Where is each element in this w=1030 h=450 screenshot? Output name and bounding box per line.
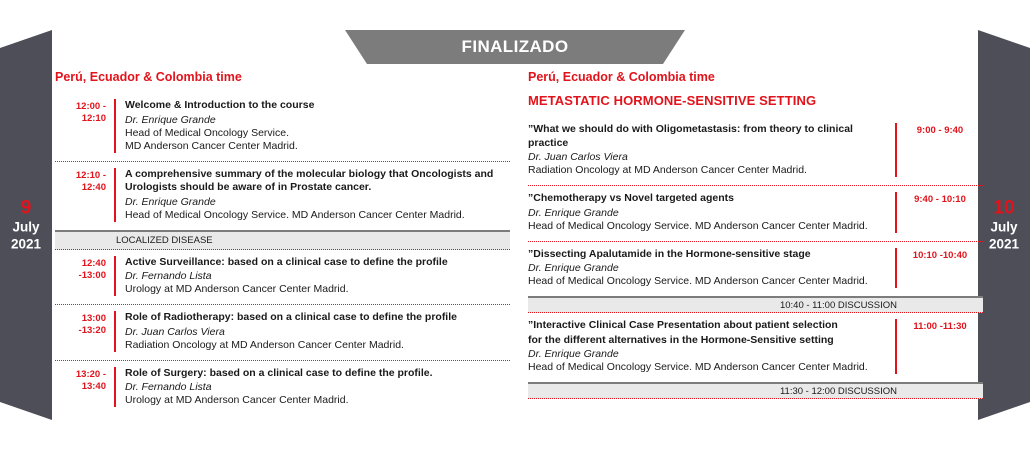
row-title: Welcome & Introduction to the course bbox=[125, 99, 510, 113]
row-body: ”Chemotherapy vs Novel targeted agents D… bbox=[528, 192, 897, 233]
day-year: 2021 bbox=[978, 236, 1030, 253]
row-speaker: Dr. Fernando Lista bbox=[125, 270, 510, 283]
row-affiliation-2: MD Anderson Cancer Center Madrid. bbox=[125, 140, 510, 153]
agenda-row[interactable]: ”Interactive Clinical Case Presentation … bbox=[528, 313, 983, 382]
row-body: ”What we should do with Oligometastasis:… bbox=[528, 123, 897, 177]
row-affiliation: Head of Medical Oncology Service. MD And… bbox=[528, 220, 886, 233]
agenda-row[interactable]: ”What we should do with Oligometastasis:… bbox=[528, 117, 983, 185]
row-speaker: Dr. Enrique Grande bbox=[125, 196, 510, 209]
section-band-label: LOCALIZED DISEASE bbox=[55, 235, 213, 246]
row-body: Active Surveillance: based on a clinical… bbox=[114, 256, 510, 297]
row-affiliation: Radiation Oncology at MD Anderson Cancer… bbox=[528, 164, 886, 177]
day-tab-left-inner: 9 July 2021 bbox=[0, 198, 52, 253]
row-affiliation: Urology at MD Anderson Cancer Center Mad… bbox=[125, 394, 510, 407]
day-month: July bbox=[978, 219, 1030, 236]
section-header-metastatic: METASTATIC HORMONE-SENSITIVE SETTING bbox=[528, 93, 983, 108]
row-speaker: Dr. Enrique Grande bbox=[528, 207, 886, 220]
day-number: 9 bbox=[0, 198, 52, 219]
row-body: Role of Surgery: based on a clinical cas… bbox=[114, 367, 510, 408]
agenda-row[interactable]: 13:00 -13:20 Role of Radiotherapy: based… bbox=[55, 304, 510, 360]
agenda-row[interactable]: 12:10 - 12:40 A comprehensive summary of… bbox=[55, 161, 510, 230]
row-title: A comprehensive summary of the molecular… bbox=[125, 168, 510, 195]
day-month: July bbox=[0, 219, 52, 236]
row-speaker: Dr. Juan Carlos Viera bbox=[125, 326, 510, 339]
row-body: ”Dissecting Apalutamide in the Hormone-s… bbox=[528, 248, 897, 289]
row-title: ”Dissecting Apalutamide in the Hormone-s… bbox=[528, 248, 886, 262]
status-banner-label: FINALIZADO bbox=[462, 37, 569, 57]
row-time: 12:00 - 12:10 bbox=[55, 99, 114, 153]
row-title: Role of Surgery: based on a clinical cas… bbox=[125, 367, 510, 381]
discussion-band-label: 11:30 - 12:00 DISCUSSION bbox=[780, 386, 897, 397]
section-band-localized-disease: LOCALIZED DISEASE bbox=[55, 230, 510, 250]
row-title-line2: for the different alternatives in the Ho… bbox=[528, 334, 886, 348]
row-speaker: Dr. Enrique Grande bbox=[528, 262, 886, 275]
row-affiliation: Head of Medical Oncology Service. MD And… bbox=[528, 275, 886, 288]
row-affiliation: Radiation Oncology at MD Anderson Cancer… bbox=[125, 339, 510, 352]
discussion-band-2: 11:30 - 12:00 DISCUSSION bbox=[528, 382, 983, 399]
row-affiliation: Head of Medical Oncology Service. MD And… bbox=[125, 209, 510, 222]
row-body: A comprehensive summary of the molecular… bbox=[114, 168, 510, 222]
row-time: 10:10 -10:40 bbox=[897, 248, 983, 289]
row-body: Welcome & Introduction to the course Dr.… bbox=[114, 99, 510, 153]
row-time: 11:00 -11:30 bbox=[897, 319, 983, 374]
timezone-header: Perú, Ecuador & Colombia time bbox=[55, 70, 510, 85]
row-time: 13:00 -13:20 bbox=[55, 311, 114, 352]
row-body: Role of Radiotherapy: based on a clinica… bbox=[114, 311, 510, 352]
row-time: 9:40 - 10:10 bbox=[897, 192, 983, 233]
timezone-header: Perú, Ecuador & Colombia time bbox=[528, 70, 983, 85]
agenda-column-day10: Perú, Ecuador & Colombia time METASTATIC… bbox=[528, 70, 983, 399]
agenda-row[interactable]: 13:20 - 13:40 Role of Surgery: based on … bbox=[55, 360, 510, 416]
agenda-row[interactable]: ”Chemotherapy vs Novel targeted agents D… bbox=[528, 185, 983, 241]
agenda-row[interactable]: 12:40 -13:00 Active Surveillance: based … bbox=[55, 250, 510, 305]
row-speaker: Dr. Enrique Grande bbox=[528, 348, 886, 361]
day-tab-right-inner: 10 July 2021 bbox=[978, 198, 1030, 253]
row-title: Role of Radiotherapy: based on a clinica… bbox=[125, 311, 510, 325]
row-title: ”Interactive Clinical Case Presentation … bbox=[528, 319, 886, 333]
discussion-band-label: 10:40 - 11:00 DISCUSSION bbox=[780, 300, 897, 311]
discussion-band-1: 10:40 - 11:00 DISCUSSION bbox=[528, 296, 983, 313]
row-speaker: Dr. Enrique Grande bbox=[125, 114, 510, 127]
agenda-row[interactable]: 12:00 - 12:10 Welcome & Introduction to … bbox=[55, 93, 510, 161]
row-affiliation: Head of Medical Oncology Service. bbox=[125, 127, 510, 140]
row-speaker: Dr. Fernando Lista bbox=[125, 381, 510, 394]
row-time: 12:40 -13:00 bbox=[55, 256, 114, 297]
day-tab-right[interactable]: 10 July 2021 bbox=[978, 30, 1030, 420]
row-title: ”What we should do with Oligometastasis:… bbox=[528, 123, 886, 150]
day-tab-left[interactable]: 9 July 2021 bbox=[0, 30, 52, 420]
agenda-row[interactable]: ”Dissecting Apalutamide in the Hormone-s… bbox=[528, 241, 983, 297]
agenda-page: 9 July 2021 10 July 2021 FINALIZADO Perú… bbox=[0, 0, 1030, 450]
row-time: 12:10 - 12:40 bbox=[55, 168, 114, 222]
row-body: ”Interactive Clinical Case Presentation … bbox=[528, 319, 897, 374]
row-speaker: Dr. Juan Carlos Viera bbox=[528, 151, 886, 164]
day-number: 10 bbox=[978, 198, 1030, 219]
status-banner: FINALIZADO bbox=[345, 30, 685, 64]
row-affiliation: Urology at MD Anderson Cancer Center Mad… bbox=[125, 283, 510, 296]
row-time: 9:00 - 9:40 bbox=[897, 123, 983, 177]
row-affiliation: Head of Medical Oncology Service. MD And… bbox=[528, 361, 886, 374]
row-time: 13:20 - 13:40 bbox=[55, 367, 114, 408]
row-title: ”Chemotherapy vs Novel targeted agents bbox=[528, 192, 886, 206]
day-year: 2021 bbox=[0, 236, 52, 253]
agenda-column-day9: Perú, Ecuador & Colombia time 12:00 - 12… bbox=[55, 70, 510, 415]
row-title: Active Surveillance: based on a clinical… bbox=[125, 256, 510, 270]
